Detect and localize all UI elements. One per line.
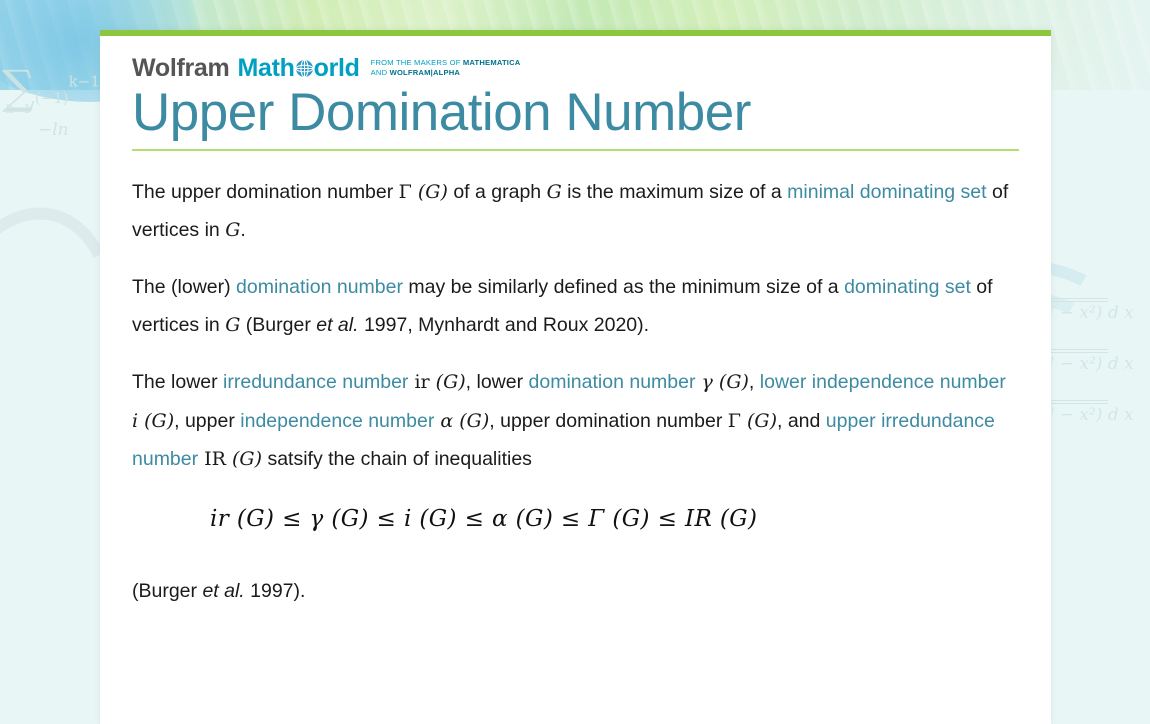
p2-var-g: G bbox=[225, 314, 240, 336]
chain-of-inequalities-equation: ir (G) ≤ γ (G) ≤ i (G) ≤ α (G) ≤ Γ (G) ≤… bbox=[210, 497, 1012, 543]
paragraph-citation: (Burger et al. 1997). bbox=[132, 572, 1012, 611]
p1-text-5: . bbox=[240, 219, 245, 241]
p3-symbol-IR: IR bbox=[198, 448, 226, 470]
p3-text-2: , lower bbox=[466, 371, 529, 393]
p2-text-4: (Burger bbox=[240, 314, 316, 336]
p2-etal: et al. bbox=[316, 314, 358, 336]
p4-text-1: (Burger bbox=[132, 580, 202, 602]
tagline-bold-1: MATHEMATICA bbox=[463, 58, 521, 67]
link-lower-independence-number[interactable]: lower independence number bbox=[760, 371, 1006, 393]
p2-text-5: 1997, Mynhardt and Roux 2020). bbox=[359, 314, 650, 336]
link-domination-number-2[interactable]: domination number bbox=[529, 371, 696, 393]
p1-var-g: G bbox=[547, 181, 562, 203]
p3-symbol-gamma: γ bbox=[695, 371, 712, 393]
content-card: Wolfram Math orld FROM THE MAKERS OF MAT… bbox=[100, 30, 1051, 724]
p1-symbol-gamma-cap: Γ bbox=[399, 181, 412, 203]
p3-symbol-alpha: α bbox=[434, 410, 453, 432]
p4-etal: et al. bbox=[202, 580, 244, 602]
link-domination-number[interactable]: domination number bbox=[236, 276, 403, 298]
paragraph-definition: The upper domination number Γ (G) of a g… bbox=[132, 173, 1012, 250]
page-title: Upper Domination Number bbox=[132, 85, 1019, 141]
tagline-line-1: FROM THE MAKERS OF MATHEMATICA bbox=[371, 58, 521, 67]
p3-text-1: The lower bbox=[132, 371, 223, 393]
p3-text-3: , bbox=[749, 371, 760, 393]
p1-text-2: of a graph bbox=[448, 181, 547, 203]
paragraph-lower-domination: The (lower) domination number may be sim… bbox=[132, 268, 1012, 345]
p4-text-2: 1997). bbox=[245, 580, 306, 602]
p3-symbol-ir: ir bbox=[408, 371, 429, 393]
logo-math-text: Math bbox=[237, 56, 294, 81]
logo-wolfram-text: Wolfram bbox=[132, 56, 229, 81]
p3-arg-g-5: (G) bbox=[741, 410, 777, 432]
right-formula-differential: d x bbox=[1108, 354, 1134, 374]
p3-text-5: , upper domination number bbox=[489, 410, 727, 432]
link-dominating-set[interactable]: dominating set bbox=[844, 276, 971, 298]
p1-var-g-2: G bbox=[225, 219, 240, 241]
tagline-bold-2: WOLFRAM|ALPHA bbox=[390, 68, 461, 77]
p3-arg-g-6: (G) bbox=[226, 448, 262, 470]
p3-arg-g-2: (G) bbox=[713, 371, 749, 393]
paragraph-chain: The lower irredundance number ir (G), lo… bbox=[132, 363, 1012, 479]
equation-full: ir (G) ≤ γ (G) ≤ i (G) ≤ α (G) ≤ Γ (G) ≤… bbox=[210, 506, 757, 532]
site-logo[interactable]: Wolfram Math orld FROM THE MAKERS OF MAT… bbox=[132, 56, 1019, 81]
tagline-prefix-1: FROM THE MAKERS OF bbox=[371, 58, 463, 67]
p1-text-3: is the maximum size of a bbox=[562, 181, 787, 203]
p3-arg-g-1: (G) bbox=[430, 371, 466, 393]
tagline-prefix-2: AND bbox=[371, 68, 390, 77]
sum-body: (−1) bbox=[35, 89, 69, 107]
link-minimal-dominating-set[interactable]: minimal dominating set bbox=[787, 181, 986, 203]
link-irredundance-number[interactable]: irredundance number bbox=[223, 371, 408, 393]
sum-exponent: k−1 bbox=[69, 73, 100, 91]
page-root: ∑(−1)k−1 k=1 −ln x² (b² − x²) d x (b² − … bbox=[0, 0, 1150, 724]
article-body: The upper domination number Γ (G) of a g… bbox=[132, 173, 1012, 611]
logo-tagline: FROM THE MAKERS OF MATHEMATICA AND WOLFR… bbox=[371, 58, 521, 78]
p2-text-2: may be similarly defined as the minimum … bbox=[403, 276, 844, 298]
link-independence-number[interactable]: independence number bbox=[240, 410, 434, 432]
logo-world-text: orld bbox=[314, 56, 360, 81]
p3-text-4: , upper bbox=[174, 410, 240, 432]
background-formula-left: ∑(−1)k−1 k=1 −ln bbox=[2, 64, 112, 140]
p3-symbol-gamma-cap: Γ bbox=[728, 410, 741, 432]
p3-text-7: satsify the chain of inequalities bbox=[262, 448, 532, 470]
p3-text-6: , and bbox=[777, 410, 826, 432]
logo-mathworld-text: Math orld bbox=[237, 56, 359, 81]
right-formula-differential: d x bbox=[1108, 303, 1134, 323]
globe-icon bbox=[295, 59, 314, 78]
p3-arg-g-4: (G) bbox=[453, 410, 489, 432]
tagline-line-2: AND WOLFRAM|ALPHA bbox=[371, 68, 460, 77]
p1-arg-g: (G) bbox=[412, 181, 448, 203]
right-formula-differential: d x bbox=[1108, 405, 1134, 425]
p3-arg-g-3: (G) bbox=[138, 410, 174, 432]
p1-text-1: The upper domination number bbox=[132, 181, 399, 203]
p2-text-1: The (lower) bbox=[132, 276, 236, 298]
title-divider bbox=[132, 149, 1019, 151]
